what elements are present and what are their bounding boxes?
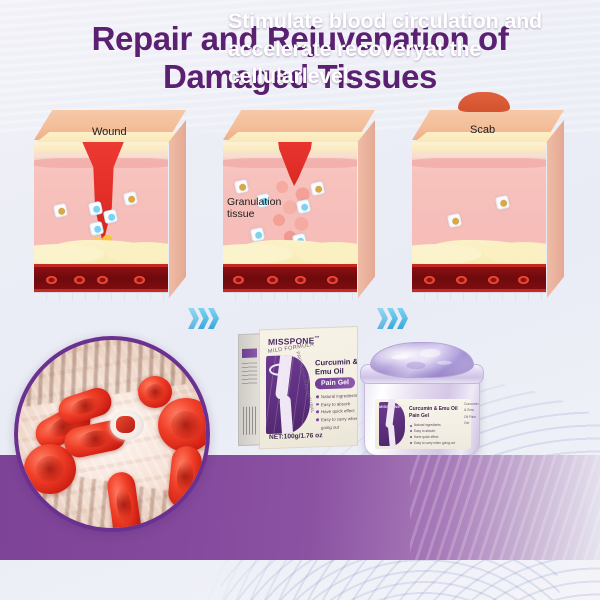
red-blood-cell-icon: [134, 276, 145, 284]
panel-label-granulation-line-2: tissue: [227, 208, 254, 220]
product-name-line-2: Emu Oil: [315, 366, 358, 377]
blood-vessel-layer: [223, 264, 357, 292]
panel-label-scab: Scab: [470, 124, 495, 137]
red-blood-cell: [158, 398, 210, 452]
tissue-cell-icon: [495, 195, 510, 210]
jar-product-name-line-2: Pain Gel: [409, 413, 467, 420]
diagram-panel-scab: Scab: [412, 110, 564, 300]
skin-cross-section: [34, 142, 168, 300]
tissue-cell-icon: [447, 213, 462, 228]
red-blood-cell-icon: [327, 276, 338, 284]
product-type-badge: Pain Gel: [315, 377, 355, 389]
product-name: Curcumin & Emu Oil: [315, 357, 358, 378]
diagram-base-strip: [223, 292, 357, 300]
tissue-cell-icon: [88, 201, 103, 216]
red-blood-cell-icon: [456, 276, 467, 284]
jar-product-name-line-1: Curcumin & Emu Oil: [409, 406, 467, 413]
diagram-panel-wound: Wound: [34, 110, 186, 300]
diagram-base-strip: [412, 292, 546, 300]
panel-label-wound: Wound: [92, 126, 127, 139]
jar-label: MISSPONE™ Curcumin & Emu Oil Pain Gel Na…: [375, 399, 471, 449]
side-panel-text-lines: [242, 362, 257, 385]
jar-gel-content: [370, 342, 474, 378]
product-box: MISSPONE™ MILD FORMULA PROFESSIONAL NATU…: [238, 326, 358, 448]
poster-stage: Repair and Rejuvenation of Damaged Tissu…: [0, 0, 600, 600]
side-panel-barcode: [243, 406, 256, 434]
subcutaneous-fat-layer: [412, 240, 546, 266]
benefit-text: Stimulate blood circulation and accelera…: [228, 8, 578, 91]
jar-brand-name: MISSPONE™: [379, 404, 404, 409]
benefit-text-line-3: cellularlevel.: [228, 63, 578, 91]
red-blood-cell-icon: [74, 276, 85, 284]
skin-surface-side: [358, 120, 375, 298]
benefit-text-line-2: accelerate recoveryat the: [228, 36, 578, 64]
tissue-cell-icon: [53, 203, 68, 218]
jar-side-text: Curcumin & Emu Oil Pain Gel: [464, 401, 476, 427]
panel-label-granulation: Granulation tissue: [227, 196, 285, 220]
tissue-cell-icon: [310, 181, 325, 196]
gel-swirl-texture: [371, 343, 473, 377]
product-photo: MISSPONE™ MILD FORMULA PROFESSIONAL NATU…: [238, 322, 498, 462]
red-blood-cell-icon: [488, 276, 499, 284]
side-panel-brand-tab: [242, 348, 257, 358]
dermis-boundary: [412, 158, 546, 168]
product-feature-item: Easy to carry when going out: [316, 415, 358, 432]
skin-cross-section: [412, 142, 546, 300]
red-blood-cell-icon: [97, 276, 108, 284]
epidermis-layer: [412, 142, 546, 151]
jar-feature-item: Easy to carry when going out: [410, 441, 468, 447]
tissue-cell-icon: [296, 199, 311, 214]
benefit-text-line-1: Stimulate blood circulation and: [228, 8, 578, 36]
tissue-cell-icon: [103, 209, 118, 224]
skin-cross-section: [223, 142, 357, 300]
red-blood-cell-icon: [267, 276, 278, 284]
blood-vessel-layer: [34, 264, 168, 292]
red-blood-cell-icon: [295, 276, 306, 284]
blood-vessel-layer: [412, 264, 546, 292]
platelet-cell: [110, 410, 144, 440]
product-feature-list: Natural ingredients Easy to absorb Have …: [316, 392, 358, 432]
tissue-cell-icon: [234, 179, 249, 194]
tissue-cell-icon: [123, 191, 138, 206]
red-blood-cell-icon: [46, 276, 57, 284]
jar-feature-list: Natural ingredients Easy to absorb Have …: [410, 423, 468, 447]
blood-cells-photo: [14, 336, 210, 532]
red-blood-cell-icon: [233, 276, 244, 284]
diagram-base-strip: [34, 292, 168, 300]
panel-label-granulation-line-1: Granulation: [227, 196, 281, 208]
subcutaneous-fat-layer: [34, 240, 168, 266]
skin-surface-side: [169, 120, 186, 298]
jar-product-name: Curcumin & Emu Oil Pain Gel: [409, 406, 467, 420]
product-box-front: MISSPONE™ MILD FORMULA PROFESSIONAL NATU…: [259, 326, 358, 449]
tissue-cell-icon: [89, 221, 104, 236]
diagram-panel-granulation: Granulation tissue: [223, 110, 375, 300]
net-weight-label: NET:100g/1.76 oz: [269, 432, 323, 441]
trademark-symbol: ™: [314, 335, 319, 341]
product-jar: MISSPONE™ Curcumin & Emu Oil Pain Gel Na…: [358, 342, 486, 458]
wound-healing-diagram: Wound: [0, 110, 600, 310]
subcutaneous-fat-layer: [223, 240, 357, 266]
red-blood-cell-icon: [424, 276, 435, 284]
skin-surface-side: [547, 120, 564, 298]
red-blood-cell-icon: [518, 276, 529, 284]
product-box-side-panel: [238, 333, 260, 446]
double-chevron-right-icon: [186, 306, 224, 332]
red-blood-cell: [138, 376, 172, 408]
